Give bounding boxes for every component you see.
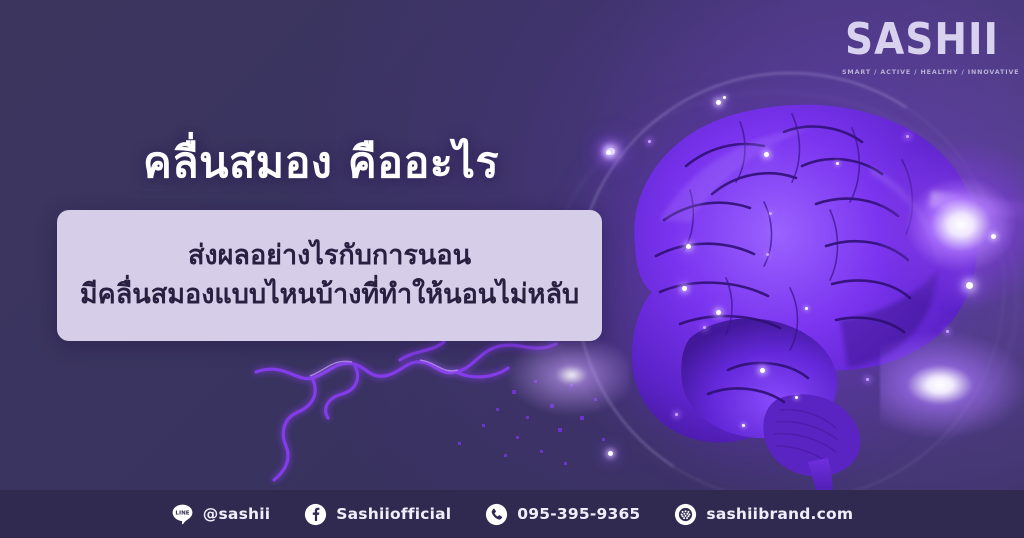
neural-node-dot [723,96,726,99]
neural-node-dot [606,150,611,155]
neural-node-dot [991,234,996,239]
neural-node-dot [769,212,772,215]
subtitle-line-2: มีคลื่นสมองแบบไหนบ้างที่ทำให้นอนไม่หลับ [80,279,579,312]
neural-node-dot [966,282,973,289]
globe-icon [674,503,697,526]
neural-node-dot [760,368,765,373]
neural-node-dot [764,152,769,157]
contact-facebook[interactable]: Sashiiofficial [304,503,451,526]
contact-phone-label: 095-395-9365 [517,505,640,523]
logo-tagline: SMART / ACTIVE / HEALTHY / INNOVATIVE [842,69,1002,76]
promo-banner: SASHII SMART / ACTIVE / HEALTHY / INNOVA… [0,0,1024,538]
subtitle-card: ส่งผลอย่างไรกับการนอน มีคลื่นสมองแบบไหนบ… [57,210,602,341]
neural-node-dot [703,326,706,329]
neural-node-dot [716,310,721,315]
contact-facebook-label: Sashiiofficial [336,505,451,523]
contact-footer-bar: LINE @sashii Sashiiofficial 095-395- [0,490,1024,538]
neural-node-dot [805,307,808,310]
neural-node-dot [682,286,687,291]
neural-lightning-trail [250,320,670,500]
neural-node-dot [675,413,678,416]
neural-node-dot [608,451,613,456]
facebook-icon [304,503,327,526]
line-icon: LINE [171,503,194,526]
neural-node-dot [742,424,745,427]
neural-node-dot [946,330,949,333]
neural-node-dot [836,162,839,165]
phone-icon [485,503,508,526]
neural-node-dot [648,140,651,143]
contact-line-label: @sashii [203,505,270,523]
svg-text:LINE: LINE [175,510,189,516]
neural-node-dot [906,135,909,138]
neural-node-dot [716,100,721,105]
contact-phone[interactable]: 095-395-9365 [485,503,640,526]
neural-node-dot [866,378,869,381]
page-title: คลื่นสมอง คืออะไร [143,139,499,188]
neural-node-dot [686,244,691,249]
logo-wordmark: SASHII [842,18,1002,62]
contact-line[interactable]: LINE @sashii [171,503,270,526]
neural-node-dot [795,396,798,399]
neural-node-dot [766,253,769,256]
subtitle-line-1: ส่งผลอย่างไรกับการนอน [188,240,471,273]
contact-website[interactable]: sashiibrand.com [674,503,853,526]
brand-logo: SASHII SMART / ACTIVE / HEALTHY / INNOVA… [842,18,1002,76]
contact-website-label: sashiibrand.com [706,505,853,523]
